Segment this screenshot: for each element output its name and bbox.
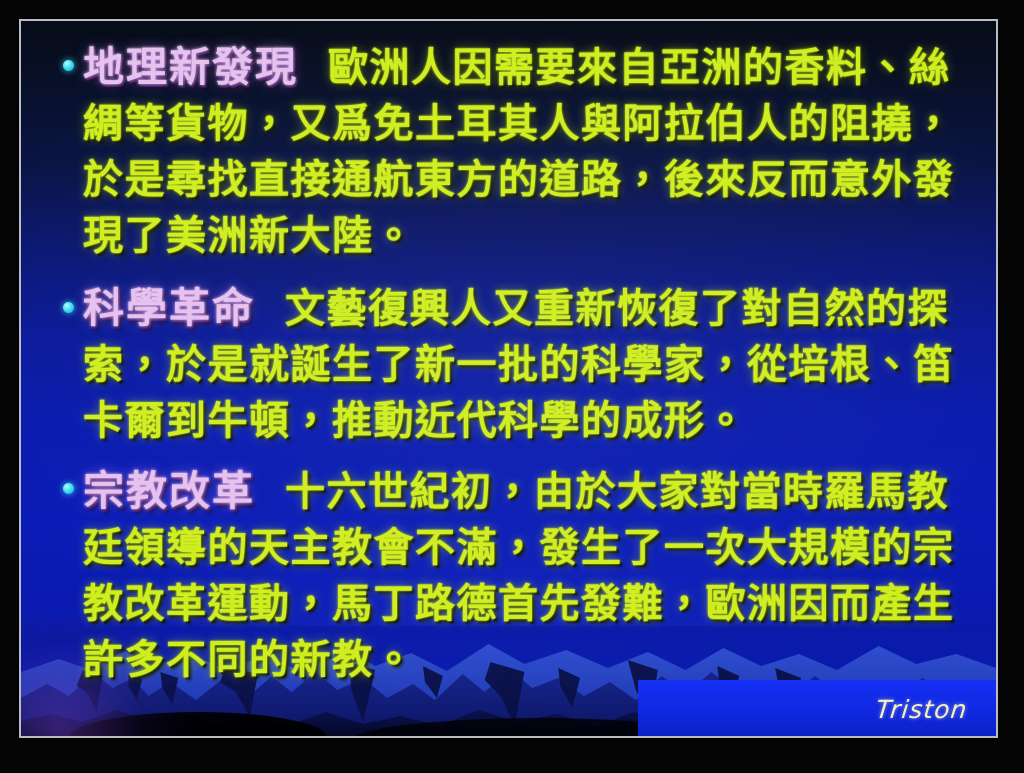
- bullet-paragraph-2: 科學革命文藝復興人又重新恢復了對自然的探索，於是就誕生了新一批的科學家，從培根、…: [83, 280, 962, 449]
- bullet-dot-icon: [63, 302, 74, 313]
- bullet-paragraph-1: 地理新發現歐洲人因需要來自亞洲的香料、絲綢等貨物，又爲免土耳其人與阿拉伯人的阻撓…: [83, 39, 962, 264]
- bullet-paragraph-3: 宗教改革十六世紀初，由於大家對當時羅馬教廷領導的天主教會不滿，發生了一次大規模的…: [83, 463, 962, 688]
- bullet-item-3: 宗教改革十六世紀初，由於大家對當時羅馬教廷領導的天主教會不滿，發生了一次大規模的…: [57, 463, 962, 688]
- photographed-slide: Triston 地理新發現歐洲人因需要來自亞洲的香料、絲綢等貨物，又爲免土耳其人…: [0, 0, 1024, 773]
- bullet-heading-1: 地理新發現: [83, 43, 298, 91]
- slide-surface: Triston 地理新發現歐洲人因需要來自亞洲的香料、絲綢等貨物，又爲免土耳其人…: [21, 21, 996, 736]
- bullet-item-1: 地理新發現歐洲人因需要來自亞洲的香料、絲綢等貨物，又爲免土耳其人與阿拉伯人的阻撓…: [57, 39, 962, 264]
- slide-content: 地理新發現歐洲人因需要來自亞洲的香料、絲綢等貨物，又爲免土耳其人與阿拉伯人的阻撓…: [21, 21, 996, 696]
- author-signature: Triston: [875, 695, 970, 724]
- bullet-dot-icon: [63, 483, 74, 494]
- bullet-heading-2: 科學革命: [83, 284, 255, 332]
- bullet-item-2: 科學革命文藝復興人又重新恢復了對自然的探索，於是就誕生了新一批的科學家，從培根、…: [57, 280, 962, 449]
- slide-frame-border: Triston 地理新發現歐洲人因需要來自亞洲的香料、絲綢等貨物，又爲免土耳其人…: [19, 19, 998, 738]
- bullet-heading-3: 宗教改革: [83, 467, 255, 515]
- bullet-dot-icon: [63, 60, 74, 71]
